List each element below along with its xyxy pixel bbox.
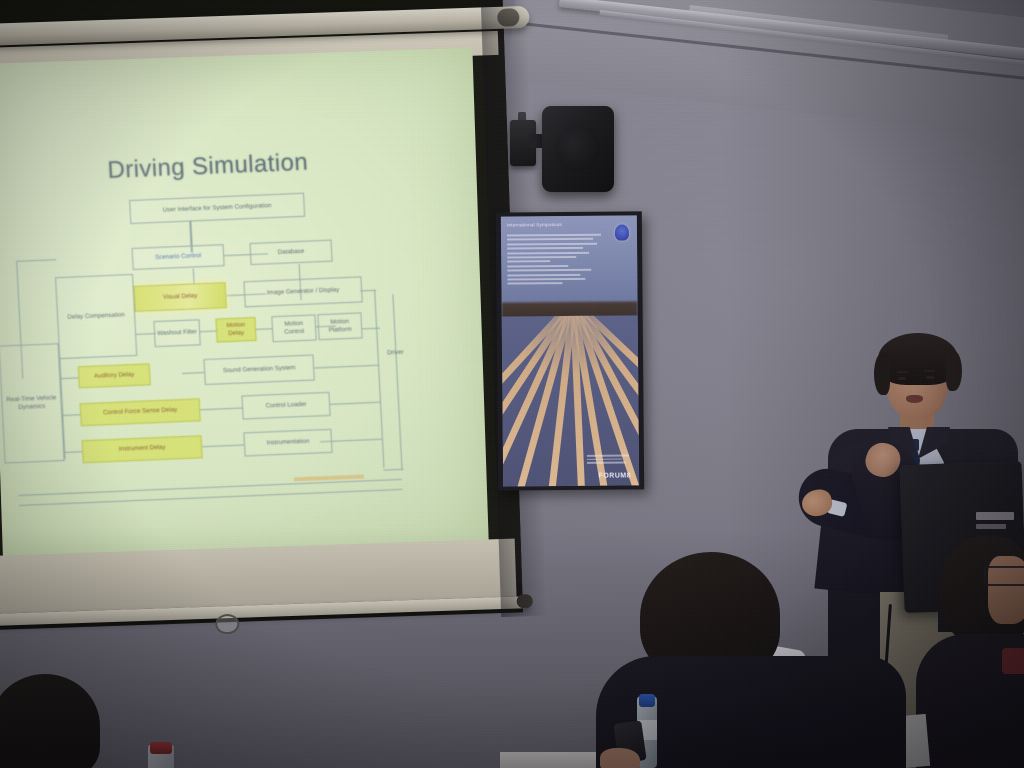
poster-artwork: International Symposium (501, 215, 639, 486)
projected-slide: Driving Simulation (0, 48, 489, 562)
node-database: Database (250, 240, 333, 265)
speaker-cone (556, 126, 600, 172)
node-user-interface: User Interface for System Configuration (129, 193, 305, 224)
poster-small-text (587, 455, 629, 466)
node-control-force-sense-delay: Control Force Sense Delay (80, 398, 201, 426)
node-motion-control: Motion Control (271, 314, 316, 342)
node-delay-compensation: Delay Compensation (55, 274, 137, 359)
wall-poster: International Symposium (496, 211, 644, 490)
node-instrument-delay: Instrument Delay (82, 435, 203, 463)
node-scenario-control: Scenario Control (132, 244, 225, 270)
node-real-time-vehicle-dynamics: Real-Time Vehicle Dynamics (0, 343, 65, 463)
node-washout-filter: Washout Filter (153, 319, 200, 347)
node-control-loader: Control Loader (241, 392, 330, 420)
wall-shading-bottom (0, 528, 1024, 768)
node-instrumentation: Instrumentation (243, 429, 332, 457)
presentation-room-photo: Driving Simulation (0, 0, 1024, 768)
node-auditory-delay: Auditory Delay (78, 363, 151, 388)
poster-logo-icon (615, 224, 629, 240)
node-motion-platform: Motion Platform (317, 312, 362, 340)
node-driver: Driver (379, 344, 412, 361)
node-image-generator-display: Image Generator / Display (243, 276, 362, 307)
node-motion-delay: Motion Delay (215, 317, 256, 343)
poster-brand: FORUM8 (599, 472, 632, 479)
poster-headline: International Symposium (507, 222, 617, 228)
node-visual-delay: Visual Delay (134, 282, 227, 312)
slide-title: Driving Simulation (107, 149, 309, 185)
poster-body-text (507, 234, 605, 288)
node-sound-generation-system: Sound Generation System (204, 355, 315, 386)
